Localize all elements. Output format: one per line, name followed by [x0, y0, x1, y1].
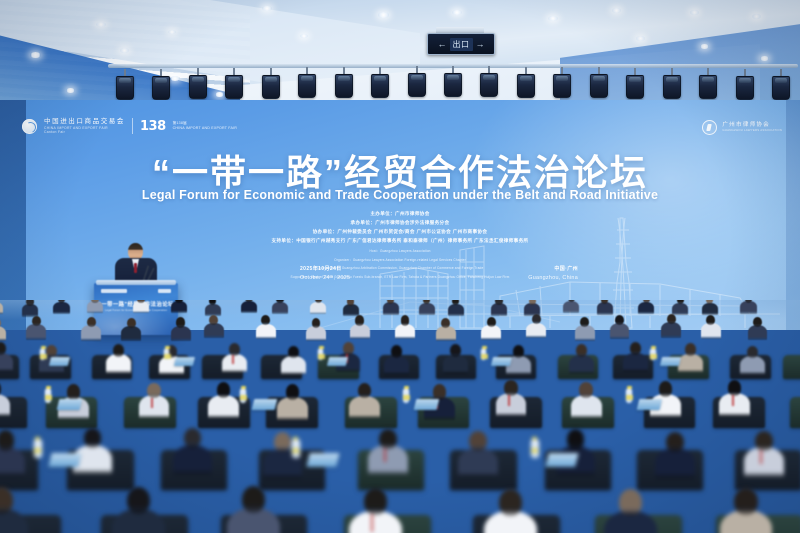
audience-shoulders — [575, 325, 595, 340]
audience-head — [26, 300, 33, 306]
audience-shoulders — [701, 323, 721, 338]
bottle-cap — [46, 386, 51, 389]
bottle-cap — [651, 346, 656, 349]
audience-shoulders — [208, 395, 239, 419]
audience-shoulders — [719, 393, 750, 417]
audience-head — [630, 342, 641, 355]
forum-title-en: Legal Forum for Economic and Trade Coope… — [0, 188, 800, 202]
water-bottle — [481, 349, 486, 360]
audience-shoulders — [139, 395, 170, 419]
audience-shoulders — [204, 323, 224, 338]
lanyard — [151, 398, 153, 409]
audience-head — [499, 489, 522, 516]
bottle-label — [481, 354, 488, 359]
stage-spotlight-6 — [335, 67, 353, 98]
audience-shoulders — [661, 322, 681, 337]
audience-shoulders — [638, 302, 654, 314]
bottle-label — [45, 395, 52, 400]
audience-head — [504, 380, 518, 396]
bottle-label — [650, 354, 657, 359]
stage-spotlight-5 — [298, 67, 316, 98]
audience-head — [401, 315, 410, 325]
audience-head — [666, 432, 684, 452]
audience-shoulders — [395, 324, 415, 339]
audience-head — [685, 343, 696, 356]
credit-line-cn-0: 主办单位：广州市律师协会 — [0, 210, 800, 219]
audience-shoulders — [171, 326, 191, 341]
audience-head — [755, 431, 773, 451]
downlight-12 — [262, 6, 272, 11]
lanyard — [232, 355, 234, 364]
audience-shoulders — [26, 324, 46, 339]
audience-shoulders — [436, 326, 456, 341]
audience-shoulders — [526, 323, 546, 338]
water-bottle — [45, 389, 51, 403]
audience-shoulders — [349, 396, 380, 420]
stage-spotlight-12 — [553, 67, 571, 98]
audience-shoulders — [740, 356, 765, 375]
stage-spotlight-15 — [663, 68, 681, 99]
stage-spotlight-0 — [116, 69, 134, 100]
audience-shoulders — [571, 395, 602, 419]
water-bottle — [650, 349, 655, 360]
audience-head — [580, 317, 589, 327]
bottle-cap — [293, 437, 298, 440]
downlight-9 — [612, 8, 621, 13]
bottle-label — [531, 448, 538, 453]
canton-fair-name-en2: Canton Fair — [44, 130, 125, 134]
document-folder — [660, 357, 681, 366]
audience-shoulders — [702, 303, 718, 315]
audience-head — [728, 380, 742, 396]
gla-emblem-icon — [702, 120, 717, 135]
document-folder — [56, 399, 82, 410]
audience-head — [286, 384, 300, 400]
audience-head — [450, 344, 461, 357]
audience-head — [659, 381, 673, 397]
audience-shoulders — [53, 302, 69, 314]
audience-head — [706, 315, 715, 325]
arrow-left-icon: ← — [438, 40, 447, 49]
audience-head — [734, 488, 757, 515]
bottle-cap — [41, 346, 46, 349]
audience-head — [379, 429, 397, 449]
audience-shoulders — [306, 326, 326, 341]
document-folder — [637, 399, 663, 410]
speaker-tie — [134, 263, 137, 273]
audience-head — [127, 487, 150, 514]
lanyard — [760, 450, 762, 464]
audience-head — [176, 317, 185, 327]
audience-head — [87, 317, 96, 327]
event-place-cn: 中国·广州 — [528, 266, 578, 274]
downlight-4 — [215, 92, 224, 97]
audience-shoulders — [384, 356, 409, 375]
audience-head — [127, 318, 136, 328]
downlight-3 — [170, 76, 180, 81]
audience-shoulders — [106, 354, 131, 373]
audience-shoulders — [121, 326, 141, 341]
stage-spotlight-16 — [699, 68, 717, 99]
audience-head — [513, 345, 524, 358]
stage-spotlight-11 — [517, 67, 535, 98]
audience-head — [441, 318, 450, 328]
audience-shoulders — [748, 325, 768, 340]
bottle-label — [626, 395, 633, 400]
audience-head — [469, 431, 487, 451]
bottle-cap — [35, 437, 40, 440]
bottle-label — [318, 354, 325, 359]
audience-head — [529, 300, 536, 305]
audience-head — [576, 344, 587, 357]
audience-shoulders — [610, 323, 630, 338]
bottle-label — [292, 448, 299, 453]
audience-shoulders — [458, 448, 497, 478]
downlight-7 — [452, 10, 462, 15]
audience-head — [364, 488, 387, 515]
audience-head — [495, 300, 502, 305]
downlight-16 — [760, 56, 769, 61]
water-bottle — [531, 440, 539, 458]
stage-spotlight-4 — [262, 68, 280, 99]
stage-spotlight-13 — [590, 67, 608, 98]
downlight-2 — [120, 48, 129, 53]
lanyard — [508, 395, 510, 406]
bottle-label — [40, 354, 47, 359]
audience-head — [113, 344, 124, 357]
audience-shoulders — [481, 325, 501, 340]
lanyard — [384, 448, 386, 462]
audience-head — [175, 300, 182, 303]
audience-shoulders — [0, 302, 3, 314]
audience-shoulders — [281, 356, 306, 375]
event-place-block: 中国·广州 Guangzhou, China — [528, 266, 578, 282]
downlight-13 — [300, 34, 308, 38]
audience-shoulders — [87, 301, 103, 313]
audience-head — [753, 317, 762, 327]
document-folder — [49, 453, 82, 467]
stage-spotlight-2 — [189, 68, 207, 99]
audience-head — [91, 300, 98, 303]
stage-spotlight-14 — [626, 68, 644, 99]
audience-shoulders — [569, 355, 594, 374]
bottle-cap — [482, 346, 487, 349]
audience-shoulders — [419, 303, 435, 315]
audience-shoulders — [672, 303, 688, 315]
audience-shoulders — [350, 324, 370, 339]
bottle-cap — [241, 386, 246, 389]
audience-shoulders — [173, 445, 212, 475]
audience-head — [312, 318, 321, 328]
credits-chinese: 主办单位：广州市律师协会承办单位：广州市律师协会涉外法律服务分会协办单位：广州仲… — [0, 210, 800, 246]
audience-head — [355, 315, 364, 325]
conference-chair — [783, 355, 800, 379]
audience-head — [579, 382, 593, 398]
downlight-14 — [636, 36, 645, 41]
stage-spotlight-10 — [480, 66, 498, 97]
audience-shoulders — [563, 301, 579, 313]
canton-fair-logo: 中国进出口商品交易会 CHINA IMPORT AND EXPORT FAIR … — [22, 118, 237, 134]
stage-spotlight-3 — [225, 68, 243, 99]
downlight-15 — [700, 44, 709, 49]
audience-shoulders — [171, 301, 187, 313]
arrow-right-icon: → — [476, 40, 485, 49]
audience-head — [567, 429, 585, 449]
water-bottle — [164, 349, 169, 360]
audience-head — [184, 428, 202, 448]
audience-shoulders — [383, 302, 399, 314]
audience-head — [0, 430, 14, 450]
document-folder — [414, 399, 440, 410]
exit-sign: ← 出口 → — [427, 33, 495, 55]
conference-photo: ← 出口 → — [0, 0, 800, 533]
credit-line-cn-2: 协办单位：广州仲裁委员会 广州市贸促会/商会 广州市公证协会 广州市商事协会 — [0, 228, 800, 237]
downlight-0 — [30, 52, 41, 58]
bottle-cap — [627, 386, 632, 389]
audience-head — [615, 315, 624, 325]
downlight-17 — [168, 30, 176, 34]
audience-head — [32, 316, 41, 326]
downlight-10 — [690, 10, 699, 15]
water-bottle — [292, 440, 300, 458]
water-bottle — [403, 389, 409, 403]
audience-shoulders — [222, 354, 247, 373]
document-folder — [546, 453, 579, 467]
audience-shoulders — [597, 302, 613, 314]
audience-shoulders — [655, 448, 694, 478]
audience-head — [84, 428, 102, 448]
bottle-cap — [404, 386, 409, 389]
water-bottle — [34, 440, 42, 458]
gla-name-en: GUANGZHOU LAWYERS ASSOCIATION — [722, 129, 782, 132]
audience-head — [487, 317, 496, 327]
document-folder — [327, 357, 348, 366]
exit-sign-label: 出口 — [450, 38, 473, 51]
downlight-5 — [66, 88, 75, 93]
audience-shoulders — [491, 303, 507, 315]
bottle-cap — [319, 346, 324, 349]
lectern-top-edge — [96, 280, 176, 285]
bottle-cap — [165, 346, 170, 349]
stage-spotlight-8 — [408, 66, 426, 97]
stage-spotlight-9 — [444, 66, 462, 97]
bottle-label — [403, 395, 410, 400]
audience-head — [619, 489, 642, 516]
audience-head — [147, 383, 161, 399]
audience-head — [67, 384, 81, 400]
event-date-en: October 24ᵗʰ, 2025 — [300, 274, 350, 282]
audience-shoulders — [744, 447, 783, 477]
document-folder — [173, 357, 194, 366]
event-place-en: Guangzhou, China — [528, 274, 578, 282]
audience-shoulders — [272, 302, 288, 314]
lanyard — [371, 514, 373, 532]
document-folder — [307, 453, 340, 467]
event-date-cn: 2025年10月24日 — [300, 266, 350, 274]
bottle-label — [34, 448, 41, 453]
audience-head — [137, 300, 144, 303]
canton-fair-name-cn: 中国进出口商品交易会 — [44, 118, 125, 126]
document-folder — [251, 399, 277, 410]
audience-shoulders — [0, 326, 6, 341]
water-bottle — [626, 389, 632, 403]
document-folder — [490, 357, 511, 366]
stage-spotlight-1 — [152, 69, 170, 100]
audience-shoulders — [133, 301, 149, 313]
audience-head — [433, 384, 447, 400]
event-date-block: 2025年10月24日 October 24ᵗʰ, 2025 — [300, 266, 350, 282]
audience-shoulders — [22, 304, 38, 316]
audience-shoulders — [256, 324, 276, 339]
audience-shoulders — [623, 353, 648, 372]
audience-head — [532, 314, 541, 324]
bottle-cap — [532, 437, 537, 440]
downlight-1 — [96, 22, 106, 27]
audience-head — [242, 486, 265, 513]
audience-shoulders — [277, 397, 308, 421]
audience-shoulders — [448, 304, 464, 316]
audience-shoulders — [678, 354, 703, 373]
audience-head — [391, 345, 402, 358]
audience-head — [229, 343, 240, 356]
audience-seating — [0, 300, 800, 533]
audience-shoulders — [310, 302, 326, 314]
stage-spotlight-18 — [772, 69, 790, 100]
audience-shoulders — [241, 301, 257, 313]
audience-head — [343, 342, 354, 355]
stage-spotlight-7 — [371, 67, 389, 98]
guangzhou-lawyers-association-logo: 广州市律师协会 GUANGZHOU LAWYERS ASSOCIATION — [702, 120, 782, 135]
audience-shoulders — [368, 445, 407, 475]
audience-head — [667, 314, 676, 324]
downlight-11 — [752, 14, 761, 19]
audience-shoulders — [740, 301, 756, 313]
water-bottle — [318, 349, 323, 360]
canton-fair-emblem-icon — [22, 119, 37, 134]
audience-shoulders — [81, 325, 101, 340]
logo-divider — [132, 118, 133, 134]
document-folder — [49, 357, 70, 366]
audience-head — [747, 346, 758, 359]
session-label-en: CHINA IMPORT AND EXPORT FAIR — [173, 126, 237, 131]
water-bottle — [240, 389, 246, 403]
audience-shoulders — [496, 393, 527, 417]
water-bottle — [40, 349, 45, 360]
conference-chair — [790, 397, 800, 428]
bottle-label — [240, 395, 247, 400]
session-number: 138 — [140, 120, 166, 133]
audience-head — [209, 315, 218, 325]
bottle-label — [164, 354, 171, 359]
lanyard — [732, 395, 734, 406]
audience-head — [274, 432, 292, 452]
stage-spotlight-17 — [736, 69, 754, 100]
downlight-8 — [548, 16, 558, 21]
downlight-6 — [378, 12, 389, 18]
credit-line-cn-1: 承办单位：广州市律师协会涉外法律服务分会 — [0, 219, 800, 228]
audience-head — [217, 382, 231, 398]
audience-shoulders — [443, 355, 468, 374]
